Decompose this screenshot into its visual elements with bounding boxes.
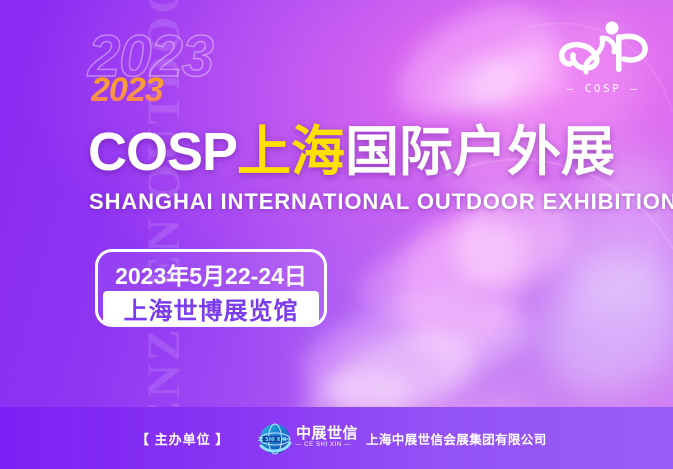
cosp-brand-mark: — COSP — (556, 20, 650, 100)
year-lockup: 2023 2023 (88, 28, 328, 112)
sponsor-logo: CE SHI XIN 中展世信 — CE SHI XIN — (258, 421, 350, 457)
footer-bar: 【 主办单位 】 CE SHI XIN 中展世信 — (0, 407, 673, 469)
event-poster: SHENZHEN OUTDOOR 2023 2023 — COSP — COSP… (0, 0, 673, 469)
page-subtitle: SHANGHAI INTERNATIONAL OUTDOOR EXHIBITIO… (89, 189, 673, 215)
event-venue: 上海世博展览馆 (103, 291, 319, 326)
title-cn-suffix: 国际户外展 (345, 122, 615, 182)
title-highlight: 上海 (237, 122, 345, 182)
cosp-wordmark: — COSP — (556, 82, 650, 95)
sponsor-logo-pinyin: — CE SHI XIN — (294, 442, 352, 448)
svg-text:CE SHI XIN: CE SHI XIN (258, 437, 287, 443)
globe-icon: CE SHI XIN (258, 422, 292, 456)
cosp-cyclist-icon (556, 20, 650, 82)
year-solid-text: 2023 (91, 73, 163, 107)
date-venue-card: 2023年5月22-24日 上海世博展览馆 (95, 249, 327, 327)
event-date: 2023年5月22-24日 (103, 257, 319, 291)
page-title: COSP上海国际户外展 (88, 124, 615, 181)
sponsor-logo-cn-name: 中展世信 (296, 422, 358, 443)
host-label: 【 主办单位 】 (136, 429, 229, 448)
title-en-prefix: COSP (88, 122, 237, 182)
sponsor-company-name: 上海中展世信会展集团有限公司 (366, 429, 547, 448)
